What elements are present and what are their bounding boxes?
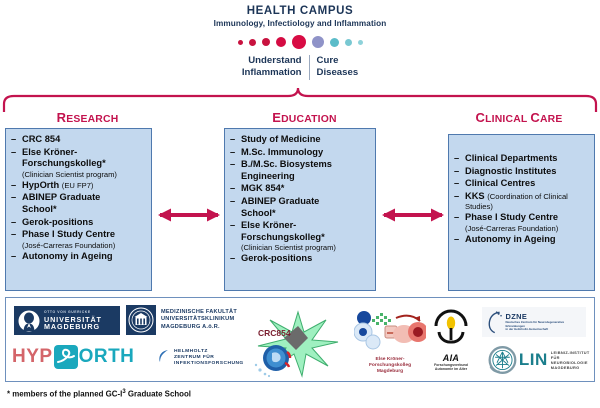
education-list: –Study of Medicine–M.Sc. Immunology–B./M… <box>230 134 371 265</box>
heading-cap-letter: R <box>57 110 67 125</box>
footnote: * members of the planned GC-I3 Graduate … <box>7 389 191 399</box>
clinical-care-list: –Clinical Departments–Diagnostic Institu… <box>454 153 590 246</box>
panel-education[interactable]: –Study of Medicine–M.Sc. Immunology–B./M… <box>224 128 376 291</box>
logo-lin: LIN LEIBNIZ-INSTITUT FÜR NEUROBIOLOGIE M… <box>486 343 594 377</box>
dash-marker: – <box>454 166 459 178</box>
dash-marker: – <box>11 180 16 192</box>
item-subnote: (José-Carreras Foundation) <box>465 224 590 233</box>
gradient-dot-8 <box>345 39 352 46</box>
item-continuation: Engineering <box>241 171 371 183</box>
panel-clinical-care[interactable]: –Clinical Departments–Diagnostic Institu… <box>448 134 595 291</box>
dash-marker: – <box>454 153 459 165</box>
panel-research[interactable]: –CRC 854–Else Kröner-Forschungskolleg*(C… <box>5 128 152 291</box>
page-title: HEALTH CAMPUS <box>0 5 600 17</box>
item-continuation: Forschungskolleg* <box>241 232 371 244</box>
list-item[interactable]: –Gerok-positions <box>11 217 147 229</box>
logo-hyporth: HYP ORTH <box>12 345 134 369</box>
dash-marker: – <box>11 147 16 159</box>
dash-marker: – <box>454 234 459 246</box>
dash-marker: – <box>230 183 235 195</box>
motto-right-line1: Cure <box>317 55 359 67</box>
item-label: Else Kröner- <box>22 147 77 157</box>
logo-medizinische-fakultaet: MEDIZINISCHE FAKULTÄT UNIVERSITÄTSKLINIK… <box>126 305 237 335</box>
motto-left-line1: Understand <box>242 55 302 67</box>
dzne-figure-icon <box>486 310 503 334</box>
dash-marker: – <box>454 212 459 224</box>
list-item[interactable]: –CRC 854 <box>11 134 147 146</box>
dash-marker: – <box>230 147 235 159</box>
list-item[interactable]: –HypOrth (EU FP7) <box>11 180 147 192</box>
list-item[interactable]: –Clinical Departments <box>454 153 590 165</box>
list-item[interactable]: –Clinical Centres <box>454 178 590 190</box>
list-item[interactable]: –Diagnostic Institutes <box>454 166 590 178</box>
logo-dzne: DZNE Deutsches Zentrum für Neurodegenera… <box>482 307 586 337</box>
dash-marker: – <box>454 178 459 190</box>
column-heading-clinical-care: CLINICAL CARE <box>440 110 598 125</box>
ekfk-cells-graphic <box>354 308 426 352</box>
helmholtz-line3: INFEKTIONSFORSCHUNG <box>174 361 244 367</box>
gradient-dot-3 <box>262 38 270 46</box>
heading-smallcaps-2: ARE <box>540 114 563 125</box>
item-label: Autonomy in Ageing <box>22 251 113 261</box>
ekfk-text: Else Kröner- Forschungskolleg Magdeburg <box>354 357 426 375</box>
dash-marker: – <box>230 220 235 232</box>
logo-crc854: CRC854 <box>246 306 351 380</box>
item-label: CRC 854 <box>22 134 60 144</box>
logo-ovgu: OTTO VON GUERICKE UNIVERSITÄT MAGDEBURG <box>14 306 120 335</box>
motto: Understand Inflammation Cure Diseases <box>0 55 600 80</box>
list-item[interactable]: –Autonomy in Ageing <box>11 251 147 263</box>
item-subnote: (José-Carreras Foundation) <box>22 241 147 250</box>
item-subnote: Studies) <box>465 202 590 211</box>
heading-cap-letter-2: C <box>530 110 540 125</box>
bidirectional-arrow-right <box>382 205 444 225</box>
item-label: KKS <box>465 191 485 201</box>
list-item[interactable]: –Else Kröner-Forschungskolleg*(Clinician… <box>11 147 147 179</box>
bidirectional-arrow-left <box>158 205 220 225</box>
item-label: B./M.Sc. Biosystems <box>241 159 332 169</box>
poster-root: HEALTH CAMPUS Immunology, Infectiology a… <box>0 0 600 408</box>
helmholtz-text: HELMHOLTZ ZENTRUM FÜR INFEKTIONSFORSCHUN… <box>174 349 244 368</box>
crc854-label: CRC854 <box>258 328 291 338</box>
motto-right: Cure Diseases <box>309 55 366 80</box>
hyporth-orth: ORTH <box>79 346 135 368</box>
gradient-dot-6 <box>312 36 324 48</box>
dzne-text: DZNE Deutsches Zentrum für Neurodegenera… <box>505 312 582 332</box>
list-item[interactable]: –Phase I Study Centre(José-Carreras Foun… <box>454 212 590 233</box>
red-brace-connector <box>0 86 600 112</box>
list-item[interactable]: –KKS (Coordination of ClinicalStudies) <box>454 191 590 212</box>
lin-text: LEIBNIZ-INSTITUT FÜR NEUROBIOLOGIE MAGDE… <box>551 350 594 370</box>
list-item[interactable]: –Phase I Study Centre(José-Carreras Foun… <box>11 229 147 250</box>
item-label: Gerok-positions <box>241 253 312 263</box>
item-label: ABINEP Graduate <box>241 196 319 206</box>
header: HEALTH CAMPUS Immunology, Infectiology a… <box>0 5 600 80</box>
hyporth-hook-icon <box>54 345 78 369</box>
list-item[interactable]: –M.Sc. Immunology <box>230 147 371 159</box>
dash-marker: – <box>454 191 459 203</box>
gradient-dot-9 <box>358 40 363 45</box>
column-heading-research: RESEARCH <box>5 110 170 125</box>
medfak-line2: UNIVERSITÄTSKLINIKUM <box>161 316 237 323</box>
dash-marker: – <box>11 251 16 263</box>
guericke-portrait-icon <box>17 309 41 333</box>
logo-aia: AIA Forschungsverbund Autonomie im Alter <box>418 308 484 372</box>
lin-word: LIN <box>519 350 548 370</box>
heading-smallcaps: DUCATION <box>281 114 337 125</box>
hyporth-hyp: HYP <box>12 346 53 368</box>
item-label: Gerok-positions <box>22 217 93 227</box>
gradient-dot-7 <box>330 38 339 47</box>
dot-gradient-graphic <box>0 34 600 50</box>
helmholtz-leaf-icon <box>158 349 170 363</box>
list-item[interactable]: –MGK 854* <box>230 183 371 195</box>
item-label: Else Kröner- <box>241 220 296 230</box>
medfak-line3: MAGDEBURG A.ö.R. <box>161 324 237 331</box>
logo-else-kroener-forschungskolleg: Else Kröner- Forschungskolleg Magdeburg <box>354 308 426 378</box>
medfak-text: MEDIZINISCHE FAKULTÄT UNIVERSITÄTSKLINIK… <box>161 309 237 331</box>
dash-marker: – <box>230 134 235 146</box>
aia-label: AIA <box>418 353 484 363</box>
gradient-dot-5 <box>292 35 306 49</box>
dash-marker: – <box>11 229 16 241</box>
item-note: (EU FP7) <box>62 181 94 190</box>
item-label: Phase I Study Centre <box>22 229 115 239</box>
gradient-dot-2 <box>249 39 256 46</box>
ovgu-line1: OTTO VON GUERICKE <box>44 311 102 314</box>
dzne-sub2: in der Helmholtz-Gemeinschaft <box>505 328 582 332</box>
item-subnote: (Clinician Scientist program) <box>22 170 147 179</box>
gradient-dot-1 <box>238 40 243 45</box>
motto-left: Understand Inflammation <box>235 55 309 80</box>
gradient-dot-4 <box>276 37 286 47</box>
ekfk-line3: Magdeburg <box>354 369 426 375</box>
aia-sub2: Autonomie im Alter <box>418 367 484 371</box>
logo-bar: OTTO VON GUERICKE UNIVERSITÄT MAGDEBURG <box>5 297 595 382</box>
crc854-cell-graphic: CRC854 <box>246 306 351 380</box>
footnote-prefix: * members of the planned GC-I <box>7 390 122 399</box>
heading-smallcaps: LINICAL <box>485 114 530 125</box>
heading-smallcaps: ESEARCH <box>66 114 118 125</box>
item-label: Clinical Centres <box>465 178 535 188</box>
dash-marker: – <box>230 159 235 171</box>
page-subtitle: Immunology, Infectiology and Inflammatio… <box>0 19 600 28</box>
heading-cap-letter: C <box>475 110 485 125</box>
dash-marker: – <box>11 192 16 204</box>
item-note: (Coordination of Clinical <box>487 192 568 201</box>
item-label: Autonomy in Ageing <box>465 234 556 244</box>
column-heading-education: EDUCATION <box>222 110 387 125</box>
aia-emblem-icon <box>428 308 474 348</box>
item-continuation: Forschungskolleg* <box>22 158 147 170</box>
dash-marker: – <box>230 196 235 208</box>
list-item[interactable]: –ABINEP GraduateSchool* <box>11 192 147 215</box>
lin-sub2: FÜR NEUROBIOLOGIE <box>551 355 594 365</box>
item-label: MGK 854* <box>241 183 284 193</box>
lin-sub3: MAGDEBURG <box>551 365 594 370</box>
item-label: Phase I Study Centre <box>465 212 558 222</box>
heading-cap-letter: E <box>272 110 281 125</box>
seal-emblem-icon <box>128 307 154 333</box>
ovgu-text: OTTO VON GUERICKE UNIVERSITÄT MAGDEBURG <box>44 311 102 331</box>
ovgu-line3: MAGDEBURG <box>44 323 102 330</box>
list-item[interactable]: –B./M.Sc. BiosystemsEngineering <box>230 159 371 182</box>
item-subnote: (Clinician Scientist program) <box>241 243 371 252</box>
item-label: Clinical Departments <box>465 153 557 163</box>
lin-emblem-icon <box>486 343 519 377</box>
logo-helmholtz: HELMHOLTZ ZENTRUM FÜR INFEKTIONSFORSCHUN… <box>158 349 244 368</box>
hook-glyph-icon <box>54 345 78 369</box>
list-item[interactable]: –Gerok-positions <box>230 253 371 265</box>
item-label: ABINEP Graduate <box>22 192 100 202</box>
list-item[interactable]: –Study of Medicine <box>230 134 371 146</box>
dash-marker: – <box>11 134 16 146</box>
item-continuation: School* <box>22 204 147 216</box>
item-label: Diagnostic Institutes <box>465 166 556 176</box>
item-continuation: School* <box>241 208 371 220</box>
list-item[interactable]: –Else Kröner-Forschungskolleg*(Clinician… <box>230 220 371 252</box>
list-item[interactable]: –ABINEP GraduateSchool* <box>230 196 371 219</box>
item-label: M.Sc. Immunology <box>241 147 323 157</box>
motto-right-line2: Diseases <box>317 67 359 79</box>
footnote-suffix: Graduate School <box>126 390 191 399</box>
dash-marker: – <box>11 217 16 229</box>
item-label: HypOrth <box>22 180 59 190</box>
item-label: Study of Medicine <box>241 134 321 144</box>
list-item[interactable]: –Autonomy in Ageing <box>454 234 590 246</box>
university-seal-icon <box>126 305 156 335</box>
research-list: –CRC 854–Else Kröner-Forschungskolleg*(C… <box>11 134 147 262</box>
dash-marker: – <box>230 253 235 265</box>
motto-left-line2: Inflammation <box>242 67 302 79</box>
